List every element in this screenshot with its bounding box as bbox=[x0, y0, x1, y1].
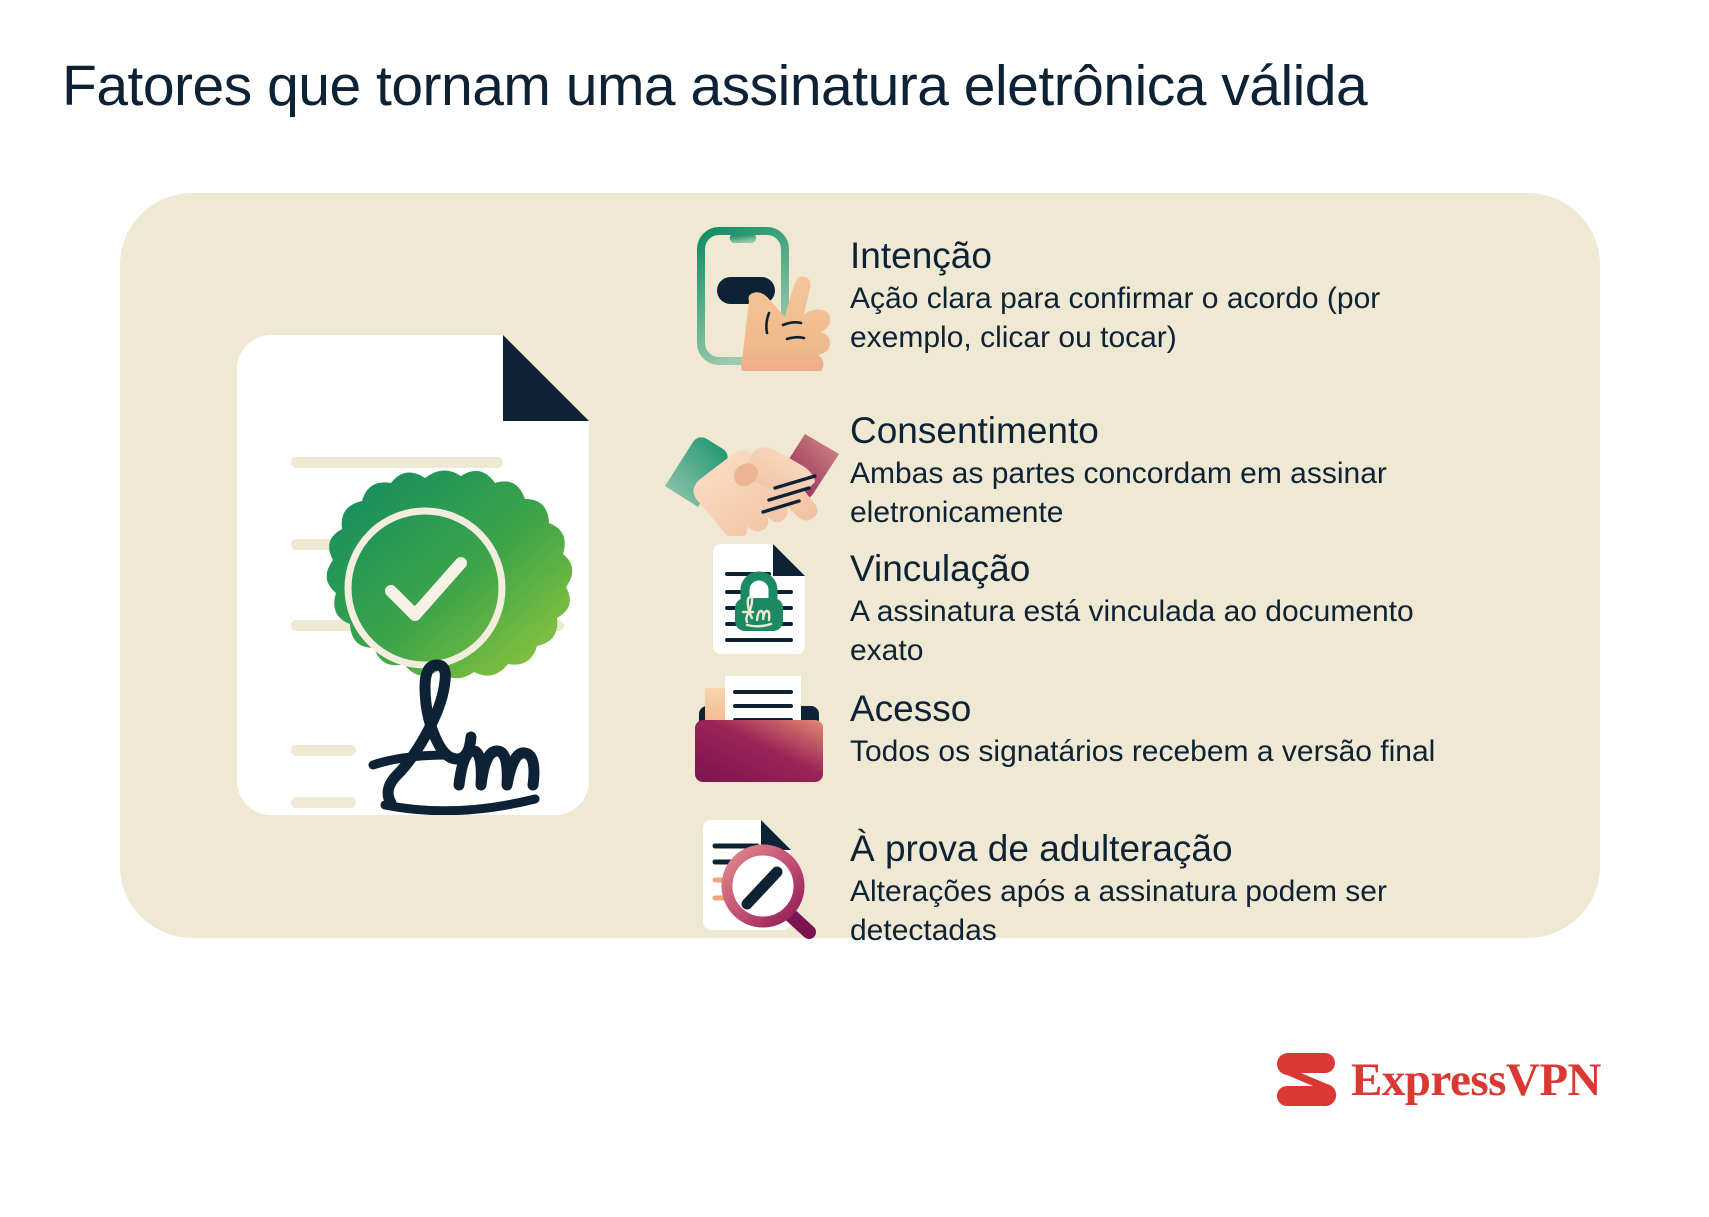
feature-text: Intenção Ação clara para confirmar o aco… bbox=[850, 231, 1565, 357]
folder-documents-icon bbox=[685, 684, 850, 834]
feature-text: Acesso Todos os signatários recebem a ve… bbox=[850, 684, 1565, 772]
feature-item: Acesso Todos os signatários recebem a ve… bbox=[685, 684, 1565, 834]
feature-item: À prova de adulteração Alterações após a… bbox=[685, 824, 1565, 974]
expressvpn-logo: ExpressVPN bbox=[1275, 1051, 1601, 1109]
feature-title: Intenção bbox=[850, 235, 1565, 276]
expressvpn-mark-icon bbox=[1275, 1051, 1337, 1109]
feature-list: Intenção Ação clara para confirmar o aco… bbox=[685, 231, 1565, 931]
handshake-icon bbox=[685, 406, 850, 556]
feature-description: A assinatura está vinculada ao documento… bbox=[850, 593, 1470, 669]
page-title: Fatores que tornam uma assinatura eletrô… bbox=[62, 55, 1662, 118]
phone-tap-icon bbox=[685, 231, 850, 381]
document-magnifier-icon bbox=[685, 824, 850, 974]
infographic-page: Fatores que tornam uma assinatura eletrô… bbox=[0, 0, 1709, 1217]
signed-document-illustration bbox=[203, 333, 623, 815]
feature-item: Consentimento Ambas as partes concordam … bbox=[685, 406, 1565, 556]
feature-description: Alterações após a assinatura podem ser d… bbox=[850, 873, 1470, 949]
feature-description: Ação clara para confirmar o acordo (por … bbox=[850, 280, 1470, 356]
feature-text: Consentimento Ambas as partes concordam … bbox=[850, 406, 1565, 532]
feature-description: Ambas as partes concordam em assinar ele… bbox=[850, 455, 1470, 531]
feature-title: Consentimento bbox=[850, 410, 1565, 451]
feature-title: À prova de adulteração bbox=[850, 828, 1565, 869]
feature-text: À prova de adulteração Alterações após a… bbox=[850, 824, 1565, 950]
feature-item: Intenção Ação clara para confirmar o aco… bbox=[685, 231, 1565, 381]
expressvpn-wordmark: ExpressVPN bbox=[1351, 1057, 1601, 1104]
feature-text: Vinculação A assinatura está vinculada a… bbox=[850, 544, 1565, 670]
content-card: Intenção Ação clara para confirmar o aco… bbox=[120, 193, 1600, 938]
feature-title: Vinculação bbox=[850, 548, 1565, 589]
feature-title: Acesso bbox=[850, 688, 1565, 729]
feature-description: Todos os signatários recebem a versão fi… bbox=[850, 733, 1470, 771]
